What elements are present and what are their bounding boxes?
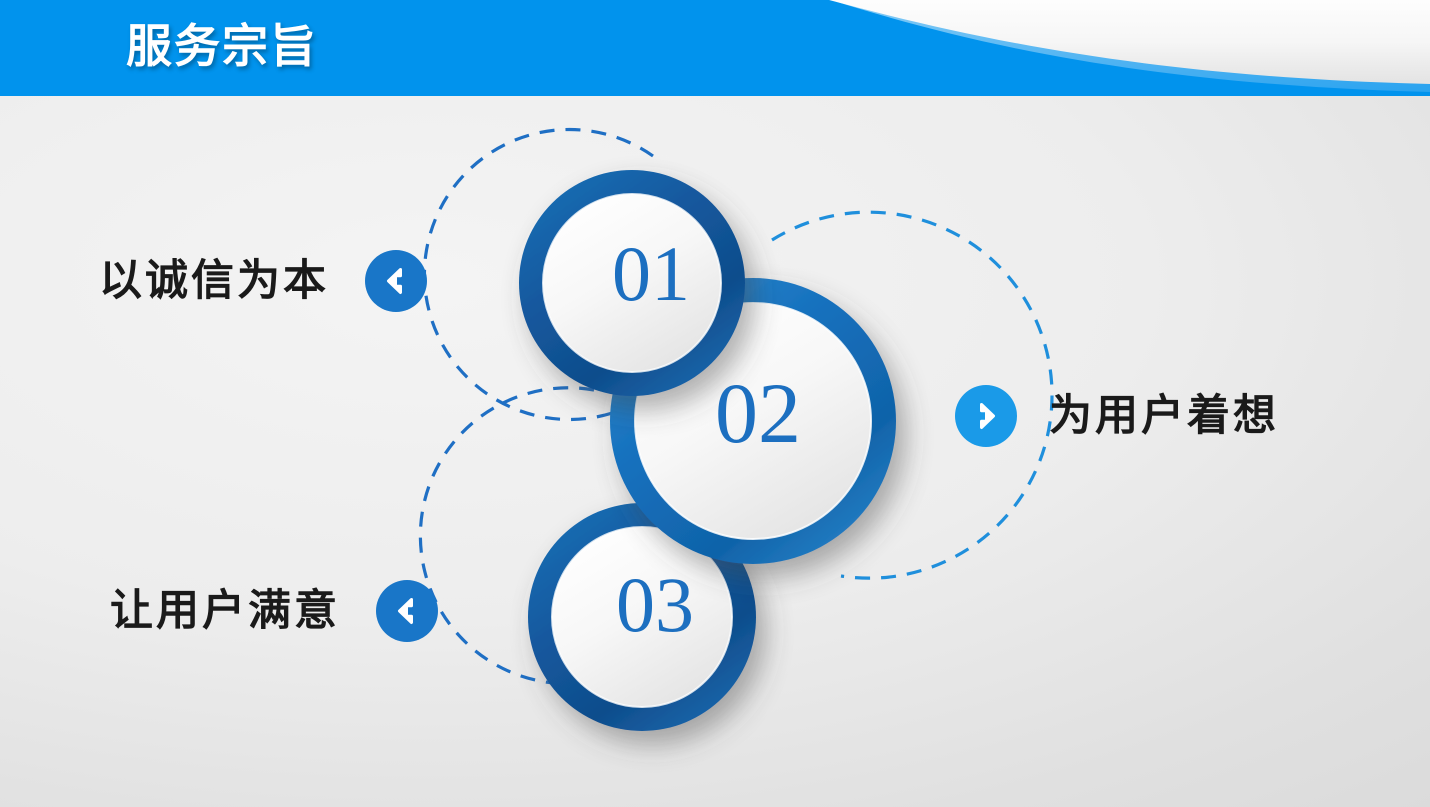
- service-purpose-diagram: 01 02 03: [0, 96, 1430, 807]
- circle-number-01: 01: [561, 235, 741, 313]
- page-title: 服务宗旨: [126, 16, 318, 76]
- circle-number-02: 02: [658, 370, 858, 456]
- arrow-left-circle-icon[interactable]: [365, 250, 427, 312]
- slide-header: 服务宗旨: [0, 0, 1430, 96]
- caption-satisfaction-label: 让用户满意: [110, 584, 340, 638]
- caption-satisfaction[interactable]: 让用户满意: [110, 580, 438, 642]
- caption-user-first-label: 为用户着想: [1049, 389, 1279, 443]
- caption-user-first[interactable]: 为用户着想: [955, 385, 1279, 447]
- slide: 服务宗旨: [0, 0, 1430, 807]
- circle-number-03: 03: [565, 566, 745, 644]
- header-swoosh-fill: [792, 0, 1430, 84]
- caption-integrity[interactable]: 以诚信为本: [99, 250, 427, 312]
- arrow-right-circle-icon[interactable]: [955, 385, 1017, 447]
- arrow-left-circle-icon[interactable]: [376, 580, 438, 642]
- caption-integrity-label: 以诚信为本: [99, 254, 329, 308]
